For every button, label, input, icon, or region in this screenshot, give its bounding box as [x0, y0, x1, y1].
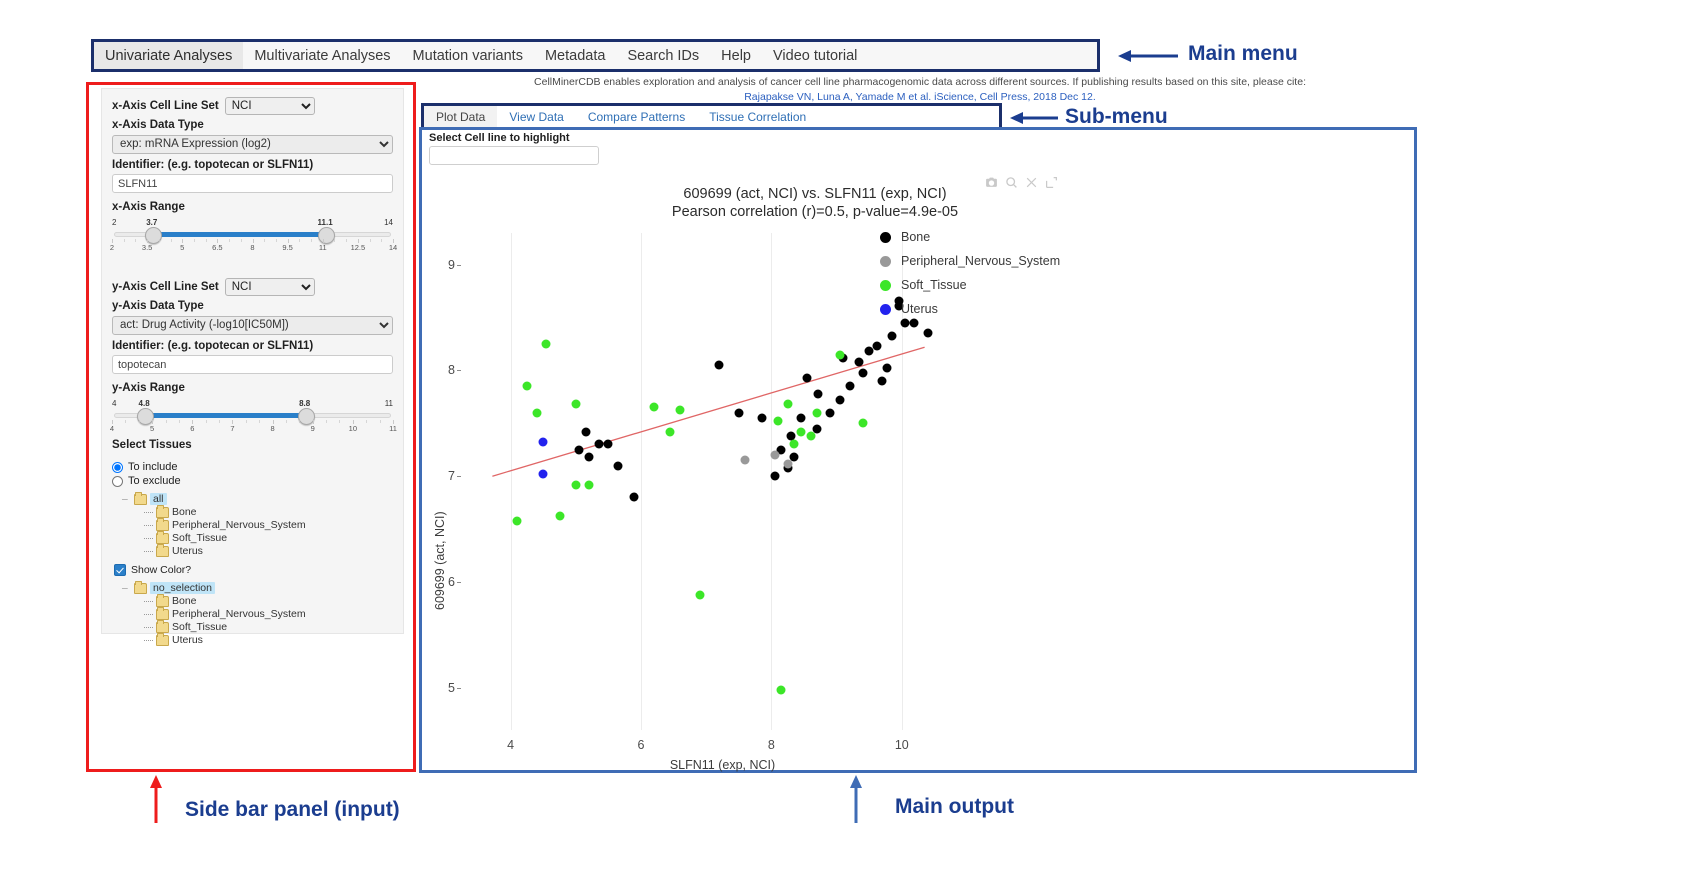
scatter-point[interactable]	[676, 405, 685, 414]
x-identifier-input[interactable]	[112, 174, 393, 193]
scatter-point[interactable]	[783, 459, 792, 468]
tree-line-icon	[144, 614, 153, 616]
scatter-point[interactable]	[666, 427, 675, 436]
scatter-point[interactable]	[614, 461, 623, 470]
slider-minor-tick	[229, 239, 230, 242]
folder-icon	[134, 494, 147, 505]
slider-minor-tick	[311, 239, 312, 242]
radio-to-include-label: To include	[128, 461, 178, 473]
tree-item-label: Peripheral_Nervous_System	[172, 608, 306, 621]
menu-item-help[interactable]: Help	[710, 42, 762, 69]
slider-tick-label: 5	[150, 424, 154, 433]
x-slider-max-label: 14	[384, 218, 393, 227]
x-cellline-select[interactable]: NCI	[225, 97, 315, 115]
legend-item[interactable]: Bone	[880, 230, 1060, 244]
slider-tick-label: 9	[311, 424, 315, 433]
arrow-sub-menu-icon	[1010, 108, 1060, 128]
slider-minor-tick	[124, 239, 125, 242]
citation-intro-text: CellMinerCDB enables exploration and ana…	[420, 76, 1420, 88]
scatter-point[interactable]	[845, 382, 854, 391]
radio-to-include-input[interactable]	[112, 462, 123, 473]
y-identifier-input[interactable]	[112, 355, 393, 374]
scatter-point[interactable]	[542, 340, 551, 349]
tree-line-icon	[144, 512, 153, 514]
main-menu[interactable]: Univariate Analyses Multivariate Analyse…	[94, 42, 1097, 69]
slider-tick-label: 12.5	[351, 243, 366, 252]
tree-line-icon	[144, 640, 153, 642]
tree-item-bone[interactable]: Bone	[144, 595, 393, 608]
scatter-point[interactable]	[522, 382, 531, 391]
sidebar-panel: x-Axis Cell Line Set NCI x-Axis Data Typ…	[101, 88, 404, 634]
x-slider-low-value: 3.7	[146, 218, 157, 227]
slider-minor-tick	[241, 239, 242, 242]
x-axis-title: SLFN11 (exp, NCI)	[465, 758, 980, 772]
tree-item-label: Soft_Tissue	[172, 532, 227, 545]
slider-tick-label: 11	[389, 424, 397, 433]
scatter-point[interactable]	[855, 358, 864, 367]
legend-label: Soft_Tissue	[901, 278, 967, 292]
scatter-point[interactable]	[571, 400, 580, 409]
tab-plot-data[interactable]: Plot Data	[424, 106, 497, 127]
scatter-point[interactable]	[604, 440, 613, 449]
menu-item-metadata[interactable]: Metadata	[534, 42, 616, 69]
legend-label: Peripheral_Nervous_System	[901, 254, 1060, 268]
slider-tick-label: 9.5	[282, 243, 292, 252]
menu-item-multivariate-analyses[interactable]: Multivariate Analyses	[243, 42, 401, 69]
x-slider-min-label: 2	[112, 218, 116, 227]
legend-marker-icon	[880, 304, 891, 315]
y-cellline-select[interactable]: NCI	[225, 278, 315, 296]
tree-root-all[interactable]: ─ all	[122, 493, 393, 505]
scatter-point[interactable]	[757, 414, 766, 423]
slider-minor-tick	[299, 420, 300, 423]
slider-tick-label: 8	[250, 243, 254, 252]
legend-label: Bone	[901, 230, 930, 244]
radio-to-include[interactable]: To include	[112, 461, 393, 473]
scatter-point[interactable]	[773, 417, 782, 426]
scatter-point[interactable]	[532, 408, 541, 417]
scatter-point[interactable]	[581, 427, 590, 436]
scatter-point[interactable]	[539, 438, 548, 447]
scatter-point[interactable]	[803, 373, 812, 382]
slider-minor-tick	[339, 420, 340, 423]
slider-minor-tick	[139, 420, 140, 423]
slider-minor-tick	[299, 239, 300, 242]
menu-item-search-ids[interactable]: Search IDs	[616, 42, 710, 69]
slider-minor-tick	[135, 239, 136, 242]
checkbox-checked-icon[interactable]	[114, 564, 126, 576]
tree-item-label: Bone	[172, 506, 197, 519]
x-datatype-label: x-Axis Data Type	[112, 119, 393, 131]
tree-item-peripheral-nervous-system[interactable]: Peripheral_Nervous_System	[144, 519, 393, 532]
scatter-point[interactable]	[783, 400, 792, 409]
highlight-cellline-label: Select Cell line to highlight	[429, 132, 570, 144]
slider-minor-tick	[346, 239, 347, 242]
scatter-plot[interactable]: 609699 (act, NCI) vs. SLFN11 (exp, NCI) …	[425, 175, 1410, 765]
y-identifier-label: Identifier: (e.g. topotecan or SLFN11)	[112, 340, 393, 352]
y-slider-min-label: 4	[112, 399, 116, 408]
legend-label: Uterus	[901, 302, 938, 316]
tree-line-icon	[144, 627, 153, 629]
slider-tick-label: 4	[110, 424, 114, 433]
scatter-point[interactable]	[584, 480, 593, 489]
tissue-tree-color[interactable]: ─ no_selection Bone Peripheral_Nervous_S…	[122, 582, 393, 647]
tree-line-icon	[144, 601, 153, 603]
scatter-point[interactable]	[741, 456, 750, 465]
expander-icon[interactable]: ─	[122, 495, 131, 504]
folder-icon	[156, 520, 169, 531]
tree-line-icon	[144, 551, 153, 553]
menu-item-univariate-analyses[interactable]: Univariate Analyses	[94, 42, 243, 69]
tree-item-label: Soft_Tissue	[172, 621, 227, 634]
tree-item-soft-tissue[interactable]: Soft_Tissue	[144, 621, 393, 634]
folder-icon	[156, 596, 169, 607]
tree-item-uterus[interactable]: Uterus	[144, 545, 393, 558]
radio-to-exclude-input[interactable]	[112, 476, 123, 487]
scatter-point[interactable]	[555, 512, 564, 521]
show-color-checkbox[interactable]: Show Color?	[114, 564, 393, 576]
slider-tick-label: 2	[110, 243, 114, 252]
tree-item-label: Bone	[172, 595, 197, 608]
y-slider-high-value: 8.8	[299, 399, 310, 408]
scatter-point[interactable]	[575, 445, 584, 454]
slider-minor-tick	[380, 420, 381, 423]
scatter-point[interactable]	[539, 470, 548, 479]
tab-tissue-correlation[interactable]: Tissue Correlation	[697, 106, 818, 127]
slider-minor-tick	[166, 420, 167, 423]
scatter-point[interactable]	[630, 493, 639, 502]
slider-minor-tick	[125, 420, 126, 423]
tree-item-label: Uterus	[172, 545, 203, 558]
scatter-point[interactable]	[806, 432, 815, 441]
legend-item[interactable]: Peripheral_Nervous_System	[880, 254, 1060, 268]
y-slider-fill	[144, 413, 305, 418]
slider-minor-tick	[366, 420, 367, 423]
scatter-point[interactable]	[777, 685, 786, 694]
y-range-slider[interactable]: 4 11 4.8 8.8 4567891011	[112, 399, 393, 433]
scatter-point[interactable]	[571, 480, 580, 489]
scatter-point[interactable]	[883, 364, 892, 373]
slider-minor-tick	[219, 420, 220, 423]
tree-item-label: Uterus	[172, 634, 203, 647]
scatter-point[interactable]	[835, 350, 844, 359]
slider-tick-label: 6	[190, 424, 194, 433]
tree-root-no-selection-label: no_selection	[150, 582, 215, 594]
arrow-main-output-icon	[846, 775, 866, 825]
tree-line-icon	[144, 538, 153, 540]
folder-icon	[156, 533, 169, 544]
slider-tick-label: 11	[319, 243, 327, 252]
slider-tick-label: 5	[180, 243, 184, 252]
slider-tick-label: 14	[389, 243, 397, 252]
legend-item[interactable]: Uterus	[880, 302, 1060, 316]
scatter-point[interactable]	[858, 368, 867, 377]
folder-icon	[134, 583, 147, 594]
slider-tick-label: 6.5	[212, 243, 222, 252]
x-identifier-label: Identifier: (e.g. topotecan or SLFN11)	[112, 159, 393, 171]
folder-icon	[156, 635, 169, 646]
slider-minor-tick	[381, 239, 382, 242]
tab-view-data[interactable]: View Data	[497, 106, 575, 127]
scatter-point[interactable]	[796, 427, 805, 436]
highlight-cellline-input[interactable]	[429, 146, 599, 165]
legend-marker-icon	[880, 232, 891, 243]
scatter-point[interactable]	[814, 389, 823, 398]
scatter-point[interactable]	[858, 419, 867, 428]
radio-to-exclude[interactable]: To exclude	[112, 475, 393, 487]
slider-minor-tick	[276, 239, 277, 242]
x-slider-fill	[152, 232, 325, 237]
scatter-point[interactable]	[715, 361, 724, 370]
scatter-point[interactable]	[813, 408, 822, 417]
y-cellline-label: y-Axis Cell Line Set	[112, 281, 219, 293]
scatter-point[interactable]	[734, 408, 743, 417]
x-datatype-select[interactable]: exp: mRNA Expression (log2)	[112, 135, 393, 154]
slider-tick-label: 7	[230, 424, 234, 433]
scatter-point[interactable]	[835, 396, 844, 405]
folder-icon	[156, 546, 169, 557]
scatter-point[interactable]	[813, 424, 822, 433]
scatter-point[interactable]	[790, 440, 799, 449]
scatter-point[interactable]	[650, 403, 659, 412]
y-slider-max-label: 11	[385, 399, 393, 408]
plot-legend[interactable]: BonePeripheral_Nervous_SystemSoft_Tissue…	[880, 230, 1060, 326]
sub-menu[interactable]: Plot Data View Data Compare Patterns Tis…	[424, 106, 999, 127]
scatter-point[interactable]	[695, 590, 704, 599]
tab-compare-patterns[interactable]: Compare Patterns	[576, 106, 697, 127]
scatter-point[interactable]	[770, 472, 779, 481]
scatter-point[interactable]	[796, 414, 805, 423]
x-cellline-label: x-Axis Cell Line Set	[112, 100, 219, 112]
arrow-sidebar-icon	[146, 775, 166, 825]
expander-icon[interactable]: ─	[122, 584, 131, 593]
y-datatype-select[interactable]: act: Drug Activity (-log10[IC50M])	[112, 316, 393, 335]
scatter-point[interactable]	[513, 516, 522, 525]
y-datatype-label: y-Axis Data Type	[112, 300, 393, 312]
scatter-point[interactable]	[873, 342, 882, 351]
scatter-point[interactable]	[923, 329, 932, 338]
slider-minor-tick	[334, 239, 335, 242]
legend-marker-icon	[880, 256, 891, 267]
tree-root-all-label: all	[150, 493, 167, 505]
tree-line-icon	[144, 525, 153, 527]
tree-item-label: Peripheral_Nervous_System	[172, 519, 306, 532]
slider-minor-tick	[246, 420, 247, 423]
y-axis-title: 609699 (act, NCI)	[433, 511, 447, 610]
scatter-point[interactable]	[887, 331, 896, 340]
slider-tick-label: 3.5	[142, 243, 152, 252]
slider-minor-tick	[206, 420, 207, 423]
scatter-point[interactable]	[826, 408, 835, 417]
y-slider-low-value: 4.8	[139, 399, 150, 408]
legend-marker-icon	[880, 280, 891, 291]
slider-tick-label: 10	[349, 424, 357, 433]
menu-item-video-tutorial[interactable]: Video tutorial	[762, 42, 868, 69]
slider-minor-tick	[179, 420, 180, 423]
scatter-point[interactable]	[770, 451, 779, 460]
radio-to-exclude-label: To exclude	[128, 475, 181, 487]
folder-icon	[156, 507, 169, 518]
show-color-label: Show Color?	[131, 564, 191, 576]
x-range-slider[interactable]: 2 14 3.7 11.1 23.556.589.51112.514	[112, 218, 393, 252]
tree-item-bone[interactable]: Bone	[144, 506, 393, 519]
arrow-main-menu-icon	[1118, 46, 1180, 66]
tree-root-no-selection[interactable]: ─ no_selection	[122, 582, 393, 594]
slider-minor-tick	[259, 420, 260, 423]
slider-minor-tick	[286, 420, 287, 423]
menu-item-mutation-variants[interactable]: Mutation variants	[402, 42, 534, 69]
folder-icon	[156, 622, 169, 633]
annotation-main-menu: Main menu	[1188, 42, 1298, 66]
slider-minor-tick	[171, 239, 172, 242]
scatter-point[interactable]	[878, 377, 887, 386]
tree-item-peripheral-nervous-system[interactable]: Peripheral_Nervous_System	[144, 608, 393, 621]
scatter-point[interactable]	[594, 440, 603, 449]
x-slider-handle-high[interactable]	[318, 227, 335, 244]
annotation-main-output: Main output	[895, 795, 1014, 819]
slider-minor-tick	[206, 239, 207, 242]
slider-tick-label: 8	[270, 424, 274, 433]
slider-minor-tick	[159, 239, 160, 242]
x-range-label: x-Axis Range	[112, 201, 393, 213]
citation-reference-link[interactable]: Rajapakse VN, Luna A, Yamade M et al. iS…	[420, 91, 1420, 103]
slider-minor-tick	[264, 239, 265, 242]
folder-icon	[156, 609, 169, 620]
slider-minor-tick	[370, 239, 371, 242]
select-tissues-title: Select Tissues	[112, 439, 393, 451]
annotation-sub-menu: Sub-menu	[1065, 105, 1168, 129]
tree-item-soft-tissue[interactable]: Soft_Tissue	[144, 532, 393, 545]
legend-item[interactable]: Soft_Tissue	[880, 278, 1060, 292]
tree-item-uterus[interactable]: Uterus	[144, 634, 393, 647]
scatter-point[interactable]	[584, 453, 593, 462]
x-slider-high-value: 11.1	[318, 218, 333, 227]
slider-minor-tick	[194, 239, 195, 242]
y-range-label: y-Axis Range	[112, 382, 393, 394]
annotation-sidebar: Side bar panel (input)	[185, 798, 400, 822]
slider-minor-tick	[326, 420, 327, 423]
tissue-tree-include[interactable]: ─ all Bone Peripheral_Nervous_System Sof…	[122, 493, 393, 558]
